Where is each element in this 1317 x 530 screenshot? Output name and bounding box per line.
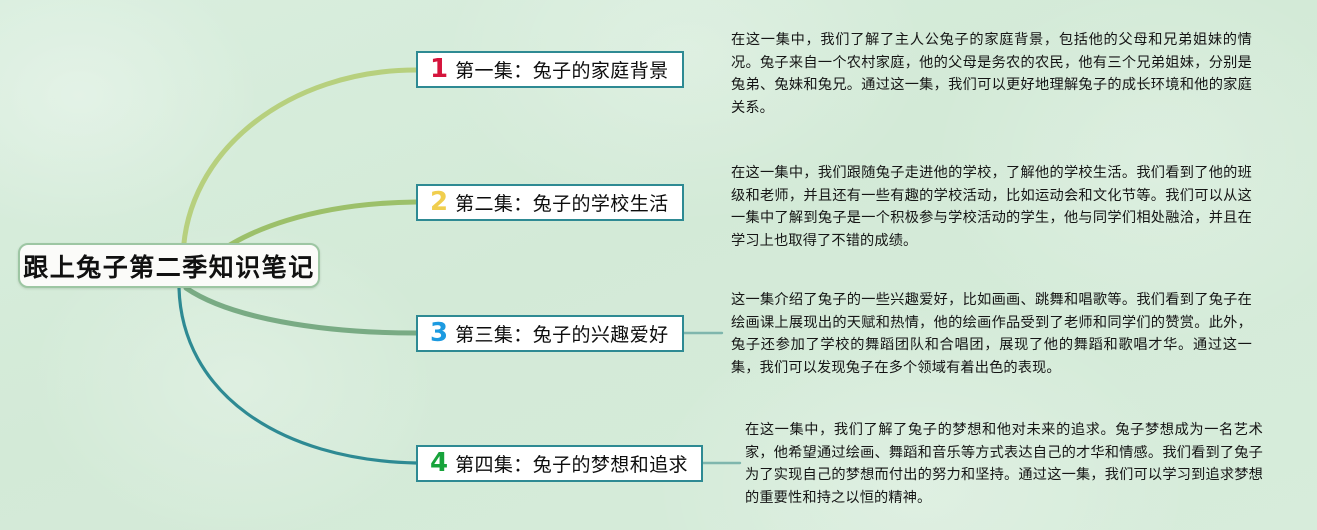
branch-node-2[interactable]: 2 第二集：兔子的学校生活 [416, 184, 684, 221]
link-to-branch-1 [183, 70, 416, 258]
branch-title-1: 第一集：兔子的家庭背景 [455, 56, 668, 83]
branch-number-3: 3 [430, 320, 448, 346]
branch-node-4[interactable]: 4 第四集：兔子的梦想和追求 [416, 445, 703, 482]
branch-title-4: 第四集：兔子的梦想和追求 [455, 450, 688, 477]
branch-node-3[interactable]: 3 第三集：兔子的兴趣爱好 [416, 315, 684, 352]
branch-title-3: 第三集：兔子的兴趣爱好 [455, 320, 668, 347]
root-node[interactable]: 跟上兔子第二季知识笔记 [18, 243, 320, 288]
branch-number-2: 2 [430, 189, 448, 215]
branch-title-2: 第二集：兔子的学校生活 [455, 189, 668, 216]
branch-number-1: 1 [430, 56, 448, 82]
link-to-branch-3 [186, 288, 416, 333]
detail-text-3: 这一集介绍了兔子的一些兴趣爱好，比如画画、跳舞和唱歌等。我们看到了兔子在绘画课上… [731, 289, 1252, 380]
branch-node-1[interactable]: 1 第一集：兔子的家庭背景 [416, 51, 684, 88]
detail-text-4: 在这一集中，我们了解了兔子的梦想和他对未来的追求。兔子梦想成为一名艺术家，他希望… [745, 419, 1263, 510]
link-to-branch-4 [179, 288, 416, 463]
mindmap-canvas: 跟上兔子第二季知识笔记 1 第一集：兔子的家庭背景 2 第二集：兔子的学校生活 … [0, 0, 1317, 530]
detail-text-1: 在这一集中，我们了解了主人公兔子的家庭背景，包括他的父母和兄弟姐妹的情况。兔子来… [731, 29, 1252, 120]
detail-text-2: 在这一集中，我们跟随兔子走进他的学校，了解他的学校生活。我们看到了他的班级和老师… [731, 162, 1252, 253]
root-node-label: 跟上兔子第二季知识笔记 [23, 248, 315, 284]
branch-number-4: 4 [430, 450, 448, 476]
